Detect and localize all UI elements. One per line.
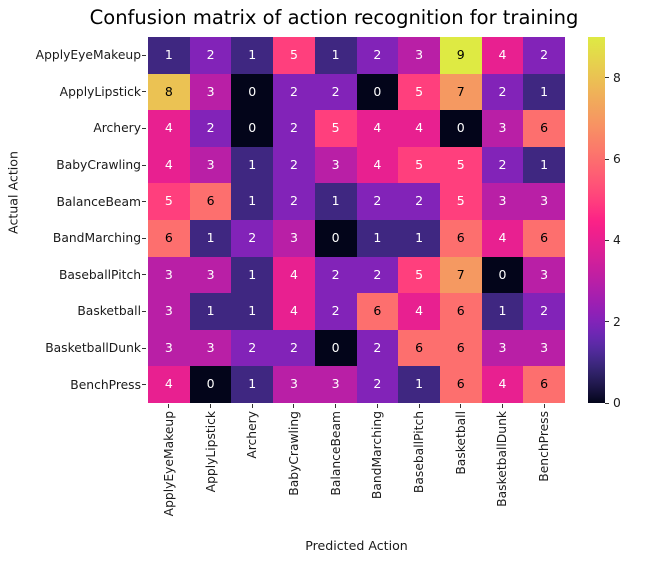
heatmap-cell: 4 bbox=[482, 220, 524, 257]
heatmap-cell: 2 bbox=[190, 37, 232, 74]
heatmap-cell-value: 1 bbox=[248, 269, 256, 282]
heatmap-cell-value: 2 bbox=[540, 49, 548, 62]
heatmap-cell: 5 bbox=[398, 74, 440, 111]
heatmap-cell: 6 bbox=[523, 110, 565, 147]
x-tick-wrap-9: BenchPress bbox=[523, 411, 565, 527]
heatmap-cell-value: 2 bbox=[332, 86, 340, 99]
colorbar-tick-mark bbox=[605, 159, 609, 160]
heatmap-cell-value: 2 bbox=[540, 305, 548, 318]
heatmap-cell: 6 bbox=[440, 330, 482, 367]
x-tick-mark-9 bbox=[523, 404, 565, 410]
heatmap-cell: 3 bbox=[315, 147, 357, 184]
heatmap-cell: 3 bbox=[148, 330, 190, 367]
heatmap-cell: 2 bbox=[357, 330, 399, 367]
heatmap-cell-value: 0 bbox=[373, 86, 381, 99]
x-tick-label-9: BenchPress bbox=[538, 411, 550, 482]
heatmap-cell-value: 2 bbox=[290, 159, 298, 172]
x-tick-wrap-8: BasketballDunk bbox=[482, 411, 524, 527]
heatmap-cell-value: 6 bbox=[165, 232, 173, 245]
heatmap-cell: 2 bbox=[315, 257, 357, 294]
heatmap-cell-value: 4 bbox=[415, 122, 423, 135]
heatmap-cell-value: 4 bbox=[498, 378, 506, 391]
y-tick-label-7: Basketball bbox=[0, 293, 141, 330]
heatmap-cell-value: 4 bbox=[415, 305, 423, 318]
x-tick-label-6: BaseballPitch bbox=[413, 411, 425, 493]
heatmap-cell-value: 5 bbox=[290, 49, 298, 62]
heatmap-cell: 5 bbox=[398, 147, 440, 184]
heatmap-cell: 5 bbox=[440, 183, 482, 220]
heatmap-cell-value: 0 bbox=[207, 378, 215, 391]
heatmap-cell: 9 bbox=[440, 37, 482, 74]
heatmap-cell: 3 bbox=[148, 293, 190, 330]
heatmap-cell-value: 2 bbox=[373, 342, 381, 355]
y-tick-label-2: Archery bbox=[0, 110, 141, 147]
x-tick-mark-4 bbox=[315, 404, 357, 410]
x-tick-wrap-0: ApplyEyeMakeup bbox=[148, 411, 190, 527]
heatmap-cell: 6 bbox=[440, 220, 482, 257]
heatmap-cell-value: 5 bbox=[165, 195, 173, 208]
heatmap-cell: 3 bbox=[482, 330, 524, 367]
heatmap-cell-value: 2 bbox=[332, 269, 340, 282]
x-tick-wrap-6: BaseballPitch bbox=[398, 411, 440, 527]
colorbar-tick-value: 4 bbox=[613, 234, 621, 246]
x-tick-mark-0 bbox=[148, 404, 190, 410]
heatmap-cell: 1 bbox=[190, 220, 232, 257]
y-tick-label-6: BaseballPitch bbox=[0, 257, 141, 294]
heatmap-grid: 1215123942830220572142025440364312345521… bbox=[148, 37, 565, 403]
y-tick-label-1: ApplyLipstick bbox=[0, 74, 141, 111]
heatmap-cell-value: 2 bbox=[290, 195, 298, 208]
colorbar-gradient bbox=[588, 37, 605, 403]
heatmap-cell: 3 bbox=[482, 110, 524, 147]
heatmap-cell-value: 0 bbox=[332, 232, 340, 245]
heatmap-cell: 5 bbox=[315, 110, 357, 147]
colorbar-tick-4: 8 bbox=[605, 72, 621, 84]
x-tick-label-8: BasketballDunk bbox=[496, 411, 508, 507]
heatmap-cell-value: 7 bbox=[457, 269, 465, 282]
y-axis-tick-labels: ApplyEyeMakeupApplyLipstickArcheryBabyCr… bbox=[0, 37, 141, 403]
heatmap-cell: 2 bbox=[273, 330, 315, 367]
x-tick-label-7: Basketball bbox=[455, 411, 467, 475]
x-tick-label-0: ApplyEyeMakeup bbox=[163, 411, 175, 516]
heatmap-cell-value: 2 bbox=[248, 232, 256, 245]
heatmap-cell-value: 2 bbox=[373, 195, 381, 208]
heatmap-cell: 1 bbox=[398, 366, 440, 403]
heatmap-cell-value: 1 bbox=[248, 49, 256, 62]
heatmap-cell: 6 bbox=[148, 220, 190, 257]
heatmap-cell-value: 1 bbox=[415, 232, 423, 245]
heatmap-cell: 2 bbox=[523, 293, 565, 330]
heatmap-cell-value: 2 bbox=[207, 122, 215, 135]
heatmap-cell-value: 3 bbox=[415, 49, 423, 62]
heatmap-cell-value: 1 bbox=[207, 305, 215, 318]
heatmap-cell: 1 bbox=[148, 37, 190, 74]
x-tick-mark-5 bbox=[357, 404, 399, 410]
heatmap-cell-value: 1 bbox=[248, 195, 256, 208]
heatmap-cell: 6 bbox=[440, 293, 482, 330]
heatmap-cell-value: 3 bbox=[498, 195, 506, 208]
heatmap-cell-value: 1 bbox=[165, 49, 173, 62]
heatmap-cell-value: 1 bbox=[540, 159, 548, 172]
heatmap-cell-value: 2 bbox=[290, 86, 298, 99]
x-tick-mark-1 bbox=[190, 404, 232, 410]
heatmap-cell: 3 bbox=[148, 257, 190, 294]
heatmap-cell: 3 bbox=[190, 147, 232, 184]
heatmap-cell: 0 bbox=[315, 330, 357, 367]
heatmap-cell-value: 4 bbox=[290, 305, 298, 318]
heatmap-cell-value: 2 bbox=[373, 49, 381, 62]
heatmap-cell: 2 bbox=[273, 183, 315, 220]
x-axis-tick-marks bbox=[148, 404, 565, 410]
heatmap-cell-value: 3 bbox=[540, 269, 548, 282]
heatmap-cell: 3 bbox=[398, 37, 440, 74]
heatmap-cell: 0 bbox=[231, 110, 273, 147]
heatmap-cell: 2 bbox=[231, 330, 273, 367]
heatmap-cell: 2 bbox=[357, 257, 399, 294]
heatmap-cell-value: 6 bbox=[457, 378, 465, 391]
colorbar-tick-1: 2 bbox=[605, 316, 621, 328]
heatmap-cell-value: 4 bbox=[165, 122, 173, 135]
heatmap-cell: 6 bbox=[190, 183, 232, 220]
colorbar-tick-mark bbox=[605, 321, 609, 322]
heatmap-cell-value: 6 bbox=[540, 378, 548, 391]
heatmap-cell-value: 5 bbox=[332, 122, 340, 135]
colorbar-tick-value: 8 bbox=[613, 72, 621, 84]
heatmap-cell: 4 bbox=[357, 147, 399, 184]
y-tick-label-9: BenchPress bbox=[0, 366, 141, 403]
heatmap-cell: 5 bbox=[440, 147, 482, 184]
heatmap-cell-value: 3 bbox=[207, 269, 215, 282]
heatmap-cell-value: 3 bbox=[165, 342, 173, 355]
heatmap-cell-value: 0 bbox=[248, 122, 256, 135]
heatmap-cell: 1 bbox=[231, 366, 273, 403]
confusion-matrix-figure: Confusion matrix of action recognition f… bbox=[0, 0, 660, 564]
x-tick-mark-6 bbox=[398, 404, 440, 410]
heatmap-cell-value: 2 bbox=[415, 195, 423, 208]
heatmap-cell: 4 bbox=[482, 37, 524, 74]
heatmap-cell-value: 1 bbox=[332, 49, 340, 62]
heatmap-cell-value: 2 bbox=[207, 49, 215, 62]
heatmap-cell-value: 5 bbox=[457, 195, 465, 208]
heatmap-cell-value: 0 bbox=[332, 342, 340, 355]
x-axis-label: Predicted Action bbox=[148, 538, 565, 553]
heatmap-cell-value: 2 bbox=[373, 269, 381, 282]
x-tick-wrap-1: ApplyLipstick bbox=[190, 411, 232, 527]
colorbar-tick-labels: 02468 bbox=[605, 37, 645, 403]
heatmap-cell-value: 6 bbox=[540, 122, 548, 135]
x-axis-tick-labels: ApplyEyeMakeupApplyLipstickArcheryBabyCr… bbox=[148, 411, 565, 527]
heatmap-cell: 2 bbox=[357, 183, 399, 220]
heatmap-cell: 1 bbox=[190, 293, 232, 330]
heatmap-cell-value: 3 bbox=[207, 342, 215, 355]
heatmap-cell: 0 bbox=[231, 74, 273, 111]
heatmap-cell-value: 2 bbox=[248, 342, 256, 355]
heatmap-cell-value: 5 bbox=[457, 159, 465, 172]
x-tick-label-3: BabyCrawling bbox=[288, 411, 300, 496]
colorbar-tick-2: 4 bbox=[605, 234, 621, 246]
heatmap-cell: 2 bbox=[231, 220, 273, 257]
heatmap-cell: 0 bbox=[190, 366, 232, 403]
heatmap-cell-value: 3 bbox=[290, 232, 298, 245]
heatmap-cell: 2 bbox=[398, 183, 440, 220]
heatmap-cell-value: 2 bbox=[290, 342, 298, 355]
heatmap-cell-value: 4 bbox=[165, 159, 173, 172]
heatmap-cell: 2 bbox=[357, 37, 399, 74]
heatmap-cell: 6 bbox=[523, 220, 565, 257]
heatmap-cell: 3 bbox=[482, 183, 524, 220]
heatmap-cell: 6 bbox=[357, 293, 399, 330]
heatmap-cell: 3 bbox=[190, 330, 232, 367]
heatmap-cell-value: 0 bbox=[248, 86, 256, 99]
heatmap-cell: 0 bbox=[482, 257, 524, 294]
heatmap-cell-value: 5 bbox=[415, 269, 423, 282]
heatmap-cell-value: 4 bbox=[165, 378, 173, 391]
heatmap-cell-value: 6 bbox=[415, 342, 423, 355]
heatmap-cell: 1 bbox=[231, 183, 273, 220]
heatmap-cell: 2 bbox=[315, 293, 357, 330]
heatmap-cell-value: 1 bbox=[248, 305, 256, 318]
x-tick-mark-7 bbox=[440, 404, 482, 410]
heatmap-cell-value: 6 bbox=[457, 232, 465, 245]
heatmap-cell-value: 3 bbox=[165, 269, 173, 282]
heatmap-cell-value: 1 bbox=[373, 232, 381, 245]
heatmap-cell: 4 bbox=[148, 366, 190, 403]
heatmap-cell: 2 bbox=[273, 147, 315, 184]
colorbar-tick-value: 6 bbox=[613, 153, 621, 165]
heatmap-cell-value: 3 bbox=[207, 159, 215, 172]
x-tick-wrap-5: BandMarching bbox=[357, 411, 399, 527]
heatmap-cell-value: 3 bbox=[540, 195, 548, 208]
heatmap-cell-value: 3 bbox=[498, 342, 506, 355]
y-tick-label-4: BalanceBeam bbox=[0, 183, 141, 220]
heatmap-cell: 1 bbox=[398, 220, 440, 257]
chart-title: Confusion matrix of action recognition f… bbox=[0, 6, 660, 29]
heatmap-cell: 7 bbox=[440, 257, 482, 294]
heatmap-cell-value: 6 bbox=[457, 342, 465, 355]
heatmap-cell: 2 bbox=[190, 110, 232, 147]
x-tick-wrap-4: BalanceBeam bbox=[315, 411, 357, 527]
heatmap-cell: 7 bbox=[440, 74, 482, 111]
x-tick-label-5: BandMarching bbox=[371, 411, 383, 499]
heatmap-cell: 1 bbox=[482, 293, 524, 330]
heatmap-cell-value: 2 bbox=[373, 378, 381, 391]
x-tick-label-1: ApplyLipstick bbox=[204, 411, 216, 492]
heatmap-cell: 5 bbox=[148, 183, 190, 220]
heatmap-cell: 4 bbox=[357, 110, 399, 147]
heatmap-cell-value: 1 bbox=[498, 305, 506, 318]
heatmap-cell: 2 bbox=[523, 37, 565, 74]
heatmap-cell-value: 6 bbox=[373, 305, 381, 318]
x-tick-mark-3 bbox=[273, 404, 315, 410]
heatmap-cell-value: 7 bbox=[457, 86, 465, 99]
colorbar-tick-mark bbox=[605, 403, 609, 404]
x-tick-wrap-2: Archery bbox=[231, 411, 273, 527]
heatmap-cell: 1 bbox=[315, 183, 357, 220]
heatmap-cell: 4 bbox=[273, 257, 315, 294]
heatmap-cell-value: 2 bbox=[498, 159, 506, 172]
heatmap-cell: 0 bbox=[315, 220, 357, 257]
heatmap-cell: 2 bbox=[273, 74, 315, 111]
heatmap-cell-value: 6 bbox=[457, 305, 465, 318]
colorbar-tick-value: 2 bbox=[613, 316, 621, 328]
heatmap-cell: 2 bbox=[357, 366, 399, 403]
x-tick-mark-8 bbox=[482, 404, 524, 410]
x-tick-label-4: BalanceBeam bbox=[329, 411, 341, 496]
heatmap-cell: 2 bbox=[482, 147, 524, 184]
heatmap-cell: 3 bbox=[273, 220, 315, 257]
x-tick-wrap-3: BabyCrawling bbox=[273, 411, 315, 527]
colorbar-tick-3: 6 bbox=[605, 153, 621, 165]
heatmap-cell: 3 bbox=[523, 183, 565, 220]
heatmap-cell-value: 4 bbox=[498, 49, 506, 62]
heatmap-cell-value: 9 bbox=[457, 49, 465, 62]
x-tick-mark-2 bbox=[231, 404, 273, 410]
heatmap-cell: 2 bbox=[273, 110, 315, 147]
colorbar bbox=[588, 37, 605, 403]
colorbar-tick-0: 0 bbox=[605, 397, 621, 409]
heatmap-cell: 3 bbox=[190, 74, 232, 111]
heatmap-cell: 5 bbox=[398, 257, 440, 294]
heatmap-cell-value: 3 bbox=[207, 86, 215, 99]
heatmap-cell: 4 bbox=[148, 147, 190, 184]
heatmap-cell: 4 bbox=[148, 110, 190, 147]
heatmap-cell: 3 bbox=[315, 366, 357, 403]
colorbar-tick-value: 0 bbox=[613, 397, 621, 409]
heatmap-cell-value: 0 bbox=[498, 269, 506, 282]
x-tick-label-2: Archery bbox=[246, 411, 258, 459]
heatmap-cell-value: 1 bbox=[248, 378, 256, 391]
heatmap-cell-value: 3 bbox=[498, 122, 506, 135]
heatmap-cell: 1 bbox=[231, 147, 273, 184]
heatmap-cell-value: 4 bbox=[290, 269, 298, 282]
heatmap-cell: 5 bbox=[273, 37, 315, 74]
heatmap-cell-value: 2 bbox=[498, 86, 506, 99]
heatmap-cell-value: 1 bbox=[540, 86, 548, 99]
heatmap-cell-value: 4 bbox=[373, 122, 381, 135]
heatmap-cell: 6 bbox=[398, 330, 440, 367]
heatmap-cell: 1 bbox=[231, 257, 273, 294]
heatmap-cell-value: 0 bbox=[457, 122, 465, 135]
heatmap-cell-value: 6 bbox=[207, 195, 215, 208]
heatmap-cell: 0 bbox=[440, 110, 482, 147]
colorbar-tick-mark bbox=[605, 77, 609, 78]
heatmap-cell-value: 3 bbox=[332, 378, 340, 391]
heatmap-cell-value: 5 bbox=[415, 86, 423, 99]
heatmap-cell: 3 bbox=[190, 257, 232, 294]
heatmap-cell: 6 bbox=[523, 366, 565, 403]
heatmap-cell: 0 bbox=[357, 74, 399, 111]
heatmap-cell: 4 bbox=[398, 110, 440, 147]
heatmap-cell: 1 bbox=[315, 37, 357, 74]
heatmap-cell-value: 4 bbox=[498, 232, 506, 245]
y-tick-label-3: BabyCrawling bbox=[0, 147, 141, 184]
heatmap-cell: 6 bbox=[440, 366, 482, 403]
heatmap-cell-value: 6 bbox=[540, 232, 548, 245]
heatmap-cell: 1 bbox=[523, 74, 565, 111]
heatmap-cell: 8 bbox=[148, 74, 190, 111]
colorbar-tick-mark bbox=[605, 240, 609, 241]
heatmap-cell-value: 3 bbox=[332, 159, 340, 172]
heatmap-cell-value: 1 bbox=[332, 195, 340, 208]
heatmap-cell-value: 1 bbox=[415, 378, 423, 391]
heatmap-cell: 3 bbox=[523, 257, 565, 294]
heatmap-cell-value: 4 bbox=[373, 159, 381, 172]
heatmap-cell: 4 bbox=[273, 293, 315, 330]
heatmap-cell: 1 bbox=[357, 220, 399, 257]
heatmap-cell-value: 1 bbox=[248, 159, 256, 172]
heatmap-cell: 2 bbox=[315, 74, 357, 111]
heatmap-cell-value: 2 bbox=[332, 305, 340, 318]
heatmap-cell: 1 bbox=[523, 147, 565, 184]
heatmap-cell-value: 3 bbox=[290, 378, 298, 391]
heatmap-cell-value: 5 bbox=[415, 159, 423, 172]
heatmap-cell: 3 bbox=[273, 366, 315, 403]
heatmap-cell-value: 1 bbox=[207, 232, 215, 245]
heatmap-cell-value: 8 bbox=[165, 86, 173, 99]
heatmap-cell-value: 2 bbox=[290, 122, 298, 135]
heatmap-cell: 4 bbox=[398, 293, 440, 330]
y-tick-label-8: BasketballDunk bbox=[0, 330, 141, 367]
heatmap-cell: 3 bbox=[523, 330, 565, 367]
y-tick-label-5: BandMarching bbox=[0, 220, 141, 257]
heatmap-cell: 1 bbox=[231, 293, 273, 330]
heatmap-cell: 2 bbox=[482, 74, 524, 111]
x-tick-wrap-7: Basketball bbox=[440, 411, 482, 527]
heatmap-cell-value: 3 bbox=[540, 342, 548, 355]
heatmap-cell-value: 3 bbox=[165, 305, 173, 318]
heatmap-cell: 1 bbox=[231, 37, 273, 74]
heatmap-cell: 4 bbox=[482, 366, 524, 403]
y-tick-label-0: ApplyEyeMakeup bbox=[0, 37, 141, 74]
